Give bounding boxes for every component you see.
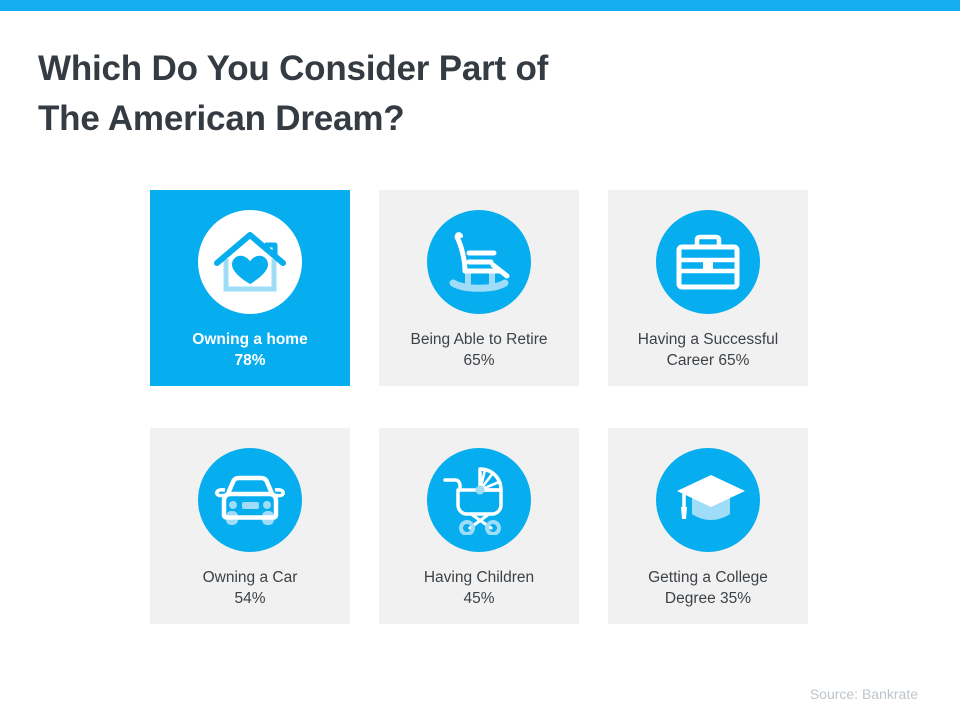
stat-card-having-children[interactable]: Having Children 45%: [379, 428, 579, 624]
icon-circle: [656, 210, 760, 314]
rocking-chair-icon: [444, 229, 514, 295]
briefcase-icon: [672, 231, 744, 293]
icon-circle: [198, 448, 302, 552]
icon-circle: [427, 448, 531, 552]
stat-card-being-able-to-retire[interactable]: Being Able to Retire 65%: [379, 190, 579, 386]
icon-circle: [656, 448, 760, 552]
stat-card-owning-a-home[interactable]: Owning a home 78%: [150, 190, 350, 386]
stat-card-label: Getting a College Degree 35%: [613, 567, 803, 610]
stat-card-label: Having a Successful Career 65%: [613, 329, 803, 372]
graduation-cap-icon: [670, 469, 746, 531]
stat-card-label: Being Able to Retire 65%: [384, 329, 574, 372]
house-heart-icon: [213, 229, 287, 295]
icon-circle: [427, 210, 531, 314]
stat-card-having-a-successful-career[interactable]: Having a Successful Career 65%: [608, 190, 808, 386]
card-row-2: Owning a Car 54%: [150, 428, 808, 624]
page-title: Which Do You Consider Part of The Americ…: [38, 44, 798, 143]
source-note: Source: Bankrate: [810, 686, 918, 702]
card-row-1: Owning a home 78%: [150, 190, 808, 386]
stat-card-grid: Owning a home 78%: [150, 190, 808, 624]
stroller-icon: [443, 465, 515, 535]
icon-circle: [198, 210, 302, 314]
stat-card-label: Owning a Car 54%: [155, 567, 345, 610]
stat-card-getting-a-college-degree[interactable]: Getting a College Degree 35%: [608, 428, 808, 624]
stat-card-owning-a-car[interactable]: Owning a Car 54%: [150, 428, 350, 624]
car-icon: [212, 471, 288, 529]
stat-card-label: Having Children 45%: [384, 567, 574, 610]
top-accent-bar: [0, 0, 960, 11]
stat-card-label: Owning a home 78%: [155, 329, 345, 372]
